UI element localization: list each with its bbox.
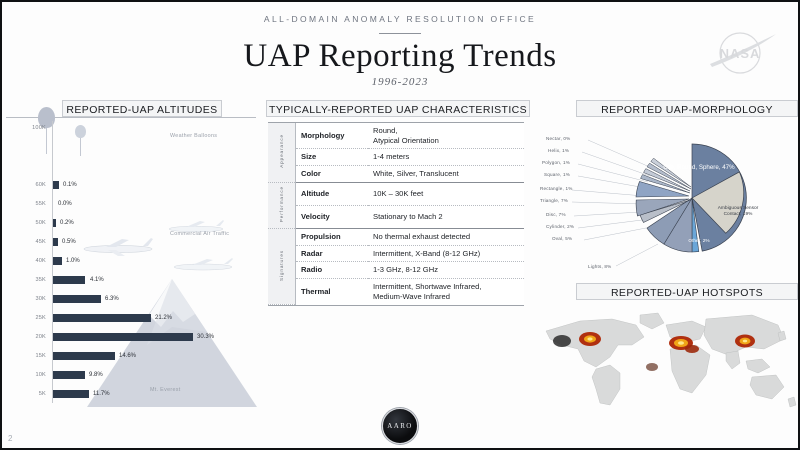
pie-label-orb: Orb, Round, Sphere, 47% [660,164,738,172]
page-title: UAP Reporting Trends [0,38,800,75]
altitude-row: 15K 14.6% [2,347,258,366]
altitude-row: 30K 6.3% [2,290,258,309]
hotspots-panel: REPORTED-UAP HOTSPOTS [540,283,798,413]
row-key: Radio [296,262,369,279]
altitude-bar [53,257,62,265]
characteristics-panel: TYPICALLY-REPORTED UAP CHARACTERISTICS A… [266,100,530,385]
altitude-value-label: 0.1% [63,176,77,195]
altitude-value-label: 21.2% [155,309,172,328]
altitude-bar [53,295,101,303]
altitude-row: 40K 1.0% [2,252,258,271]
row-key: Altitude [296,182,369,205]
title-divider [379,33,421,34]
row-value: White, Silver, Translucent [368,166,524,183]
altitude-bar [53,238,58,246]
altitude-tick-label: 100K [2,119,46,138]
table-row: Size 1-4 meters [268,149,524,166]
altitude-value-label: 0.5% [62,233,76,252]
altitude-value-label: 9.8% [89,366,103,385]
pie-label-lights: Lights, 8% [588,264,611,269]
altitudes-plot: Weather Balloons Commercial Air Traffic … [2,119,258,407]
group-label: Signatures [279,250,285,281]
altitude-tick-label: 25K [2,309,46,328]
altitude-tick-label: 20K [2,328,46,347]
altitude-tick-label: 60K [2,176,46,195]
hotspots-heading: REPORTED-UAP HOTSPOTS [576,283,798,300]
altitude-tick-label: 10K [2,366,46,385]
row-key: Radar [296,245,369,262]
row-key: Morphology [296,123,369,149]
nasa-logo-icon: NASA [694,24,786,82]
aaro-logo: AARO [382,408,418,444]
row-value: 1-4 meters [368,149,524,166]
altitude-tick-label: 50K [2,214,46,233]
altitude-row: 25K 21.2% [2,309,258,328]
pie-slices [636,144,756,252]
pie-label-polygon: Polygon, 1% [542,160,570,165]
altitude-value-label: 0.2% [60,214,74,233]
table-row: Velocity Stationary to Mach 2 [268,205,524,228]
table-row: Color White, Silver, Translucent [268,166,524,183]
altitude-bar [53,352,115,360]
morphology-heading: REPORTED UAP-MORPHOLOGY [576,100,798,117]
altitude-row: 50K 0.2% [2,214,258,233]
world-map-illustration [540,305,798,411]
row-value: 10K – 30K feet [368,182,524,205]
morphology-pie-svg [540,120,798,278]
table-row: Performance Altitude 10K – 30K feet [268,182,524,205]
altitude-tick-label: 5K [2,385,46,404]
altitude-row: 20K 30.3% [2,328,258,347]
pie-label-rectangle: Rectangle, 1% [540,186,572,191]
svg-text:NASA: NASA [720,46,761,61]
organization-kicker: ALL-DOMAIN ANOMALY RESOLUTION OFFICE [0,14,800,24]
altitude-tick-label: 30K [2,290,46,309]
page-number: 2 [8,434,12,443]
row-key: Velocity [296,205,369,228]
altitude-bar [53,219,56,227]
pie-label-helix: Helix, 1% [548,148,569,153]
page-subtitle: 1996-2023 [0,76,800,88]
row-key: Size [296,149,369,166]
altitude-value-label: 11.7% [93,385,110,404]
aaro-logo-text: AARO [387,422,412,430]
row-value: Round, Atypical Orientation [368,123,524,149]
characteristics-heading: TYPICALLY-REPORTED UAP CHARACTERISTICS [266,100,530,117]
altitudes-panel: REPORTED-UAP ALTITUDES Weather Balloons [2,100,258,410]
altitude-value-label: 14.6% [119,347,136,366]
group-cell-performance: Performance [268,182,296,228]
table-row: Appearance Morphology Round, Atypical Or… [268,123,524,149]
altitude-row: 100K [2,119,258,138]
table-row: Radio 1-3 GHz, 8-12 GHz [268,262,524,279]
altitude-tick-label: 35K [2,271,46,290]
row-key: Thermal [296,278,369,304]
group-cell-signatures: Signatures [268,228,296,304]
altitude-row: 55K 0.0% [2,195,258,214]
altitude-bar [53,314,151,322]
pie-label-other: Other, 2% [682,239,716,245]
characteristics-table-wrap: Appearance Morphology Round, Atypical Or… [268,122,524,306]
altitude-tick-label: 55K [2,195,46,214]
row-value: Intermittent, X-Band (8-12 GHz) [368,245,524,262]
altitude-bar [53,276,85,284]
row-value: 1-3 GHz, 8-12 GHz [368,262,524,279]
altitude-bar [53,371,85,379]
table-row: Signatures Propulsion No thermal exhaust… [268,228,524,245]
table-row: Radar Intermittent, X-Band (8-12 GHz) [268,245,524,262]
altitude-value-label: 4.1% [90,271,104,290]
row-value: Intermittent, Shortwave Infrared, Medium… [368,278,524,304]
row-value: No thermal exhaust detected [368,228,524,245]
pie-label-square: Square, 1% [544,172,570,177]
altitude-row: 35K 4.1% [2,271,258,290]
hotspots-map [540,305,798,411]
characteristics-table: Appearance Morphology Round, Atypical Or… [268,123,524,305]
altitude-row: 5K 11.7% [2,385,258,404]
pie-label-oval: Oval, 5% [552,236,572,241]
group-label: Appearance [279,134,285,168]
altitude-tick-label: 15K [2,347,46,366]
pie-label-ambiguous: Ambiguous Sensor Contact, 19% [710,206,766,218]
morphology-panel: REPORTED UAP-MORPHOLOGY [540,100,798,278]
altitude-row: 60K 0.1% [2,176,258,195]
row-key: Color [296,166,369,183]
row-value: Stationary to Mach 2 [368,205,524,228]
table-row: Thermal Intermittent, Shortwave Infrared… [268,278,524,304]
altitude-value-label: 6.3% [105,290,119,309]
altitude-bar [53,390,89,398]
altitude-value-label: 1.0% [66,252,80,271]
row-key: Propulsion [296,228,369,245]
altitude-value-label: 0.0% [58,195,72,214]
group-label: Performance [279,186,285,222]
pie-label-nectar: Nectar, 0% [546,136,570,141]
altitudes-heading: REPORTED-UAP ALTITUDES [62,100,222,117]
altitude-tick-label: 40K [2,252,46,271]
pie-label-disc: Disc, 7% [546,212,566,217]
altitude-bar [53,333,193,341]
group-cell-appearance: Appearance [268,123,296,182]
altitude-bar [53,181,59,189]
pie-label-cylinder: Cylinder, 2% [546,224,574,229]
slide-canvas: ALL-DOMAIN ANOMALY RESOLUTION OFFICE UAP… [0,0,800,450]
morphology-chart: Orb, Round, Sphere, 47% Ambiguous Sensor… [540,120,798,278]
altitude-value-label: 30.3% [197,328,214,347]
pie-label-triangle: Triangle, 7% [540,198,568,203]
altitude-row: 10K 9.8% [2,366,258,385]
altitude-tick-label: 45K [2,233,46,252]
altitude-row: 45K 0.5% [2,233,258,252]
